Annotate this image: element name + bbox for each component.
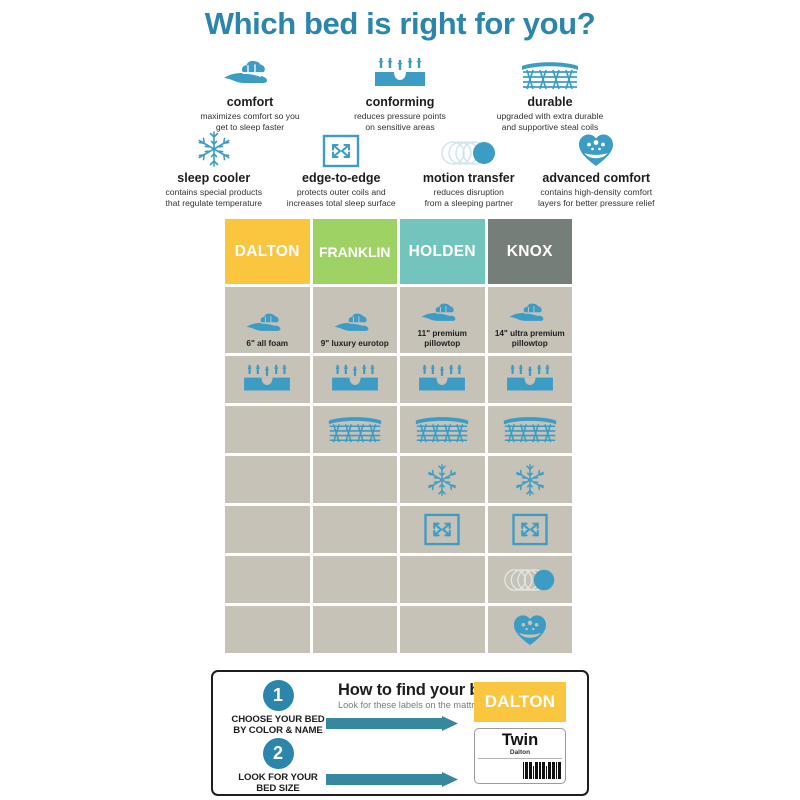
comfort-hand-icon xyxy=(245,310,289,336)
arrow-right-icon xyxy=(326,716,458,736)
expand-arrows-icon xyxy=(511,513,549,546)
matrix-cell xyxy=(488,356,573,403)
matrix-cell: 6" all foam xyxy=(225,287,310,353)
step-number-badge: 2 xyxy=(263,738,294,769)
matrix-row-edge-to-edge xyxy=(225,506,572,553)
feature-desc-line1: reduces pressure points xyxy=(335,111,465,122)
feature-desc-line2: layers for better pressure relief xyxy=(533,198,661,209)
comparison-grid: DALTON FRANKLIN HOLDEN KNOX 6" all foam … xyxy=(225,219,572,656)
product-header-dalton[interactable]: DALTON xyxy=(225,219,310,284)
snowflake-icon xyxy=(425,463,459,497)
product-header-knox[interactable]: KNOX xyxy=(488,219,573,284)
size-tag-body xyxy=(475,759,565,780)
feature-desc-line1: maximizes comfort so you xyxy=(185,111,315,122)
comfort-hand-icon xyxy=(185,54,315,92)
motion-circles-icon xyxy=(405,130,533,168)
motion-circles-icon xyxy=(501,566,559,594)
matrix-cell xyxy=(400,356,485,403)
matrix-cell-empty xyxy=(313,606,398,653)
step-text-line1: LOOK FOR YOUR xyxy=(218,772,338,783)
feature-desc-line1: reduces disruption xyxy=(405,187,533,198)
feature-name: conforming xyxy=(335,95,465,109)
step-2: 2 LOOK FOR YOUR BED SIZE xyxy=(218,738,338,794)
durable-coils-icon xyxy=(327,415,383,445)
matrix-cell-empty xyxy=(313,456,398,503)
matrix-cell-empty xyxy=(225,406,310,453)
conforming-arrows-icon xyxy=(329,363,381,396)
matrix-cell xyxy=(488,606,573,653)
product-header-franklin[interactable]: FRANKLIN xyxy=(313,219,398,284)
matrix-cell xyxy=(400,456,485,503)
snowflake-icon xyxy=(150,130,278,168)
barcode-icon xyxy=(523,762,561,779)
arrow-right-icon xyxy=(326,772,458,792)
feature-motion-transfer: motion transfer reduces disruption from … xyxy=(405,130,533,208)
infographic-page: Which bed is right for you? comfort maxi… xyxy=(0,0,800,800)
matrix-cell xyxy=(400,506,485,553)
durable-coils-icon xyxy=(414,415,470,445)
feature-advanced-comfort: advanced comfort contains high-density c… xyxy=(533,130,661,208)
comfort-hand-icon xyxy=(508,300,552,326)
matrix-cell-empty xyxy=(313,556,398,603)
step-text-line2: BED SIZE xyxy=(218,783,338,794)
conforming-arrows-icon xyxy=(335,54,465,92)
step-1: 1 CHOOSE YOUR BED BY COLOR & NAME xyxy=(218,680,338,736)
size-tag-model: Dalton xyxy=(478,749,562,759)
matrix-cell-empty xyxy=(400,556,485,603)
step-text-line2: BY COLOR & NAME xyxy=(218,725,338,736)
feature-conforming: conforming reduces pressure points on se… xyxy=(335,54,465,132)
conforming-arrows-icon xyxy=(504,363,556,396)
product-spec-dalton: 6" all foam xyxy=(246,339,288,349)
matrix-cell-empty xyxy=(225,456,310,503)
product-spec-knox: 14" ultra premium pillowtop xyxy=(488,329,573,348)
matrix-row-sleep-cooler xyxy=(225,456,572,503)
expand-arrows-icon xyxy=(423,513,461,546)
feature-desc-line1: contains special products xyxy=(150,187,278,198)
product-spec-franklin: 9" luxury eurotop xyxy=(321,339,389,349)
feature-desc-line2: that regulate temperature xyxy=(150,198,278,209)
feature-comfort: comfort maximizes comfort so you get to … xyxy=(185,54,315,132)
brand-color-tag: DALTON xyxy=(474,682,566,722)
feature-name: edge-to-edge xyxy=(278,171,406,185)
step-number-badge: 1 xyxy=(263,680,294,711)
matrix-row-conforming xyxy=(225,356,572,403)
comfort-hand-icon xyxy=(420,300,464,326)
durable-coils-icon xyxy=(502,415,558,445)
matrix-cell-empty xyxy=(400,606,485,653)
product-header-row: DALTON FRANKLIN HOLDEN KNOX xyxy=(225,219,572,284)
matrix-row-advanced-comfort xyxy=(225,606,572,653)
comfort-hand-icon xyxy=(333,310,377,336)
feature-desc-line2: increases total sleep surface xyxy=(278,198,406,209)
matrix-cell: 14" ultra premium pillowtop xyxy=(488,287,573,353)
matrix-cell: 9" luxury eurotop xyxy=(313,287,398,353)
features-row-primary: comfort maximizes comfort so you get to … xyxy=(185,54,615,132)
matrix-cell xyxy=(488,406,573,453)
size-tag-fineprint xyxy=(479,762,523,780)
how-to-find-panel: How to find your bed Look for these labe… xyxy=(211,670,589,796)
feature-edge-to-edge: edge-to-edge protects outer coils and in… xyxy=(278,130,406,208)
feature-name: motion transfer xyxy=(405,171,533,185)
matrix-cell-empty xyxy=(313,506,398,553)
matrix-cell xyxy=(488,456,573,503)
matrix-cell xyxy=(488,506,573,553)
matrix-row-motion-transfer xyxy=(225,556,572,603)
panel-subtitle: Look for these labels on the mattress xyxy=(338,700,489,710)
snowflake-icon xyxy=(513,463,547,497)
feature-desc-line2: from a sleeping partner xyxy=(405,198,533,209)
matrix-row-durable xyxy=(225,406,572,453)
conforming-arrows-icon xyxy=(241,363,293,396)
matrix-cell xyxy=(488,556,573,603)
expand-arrows-icon xyxy=(278,130,406,168)
durable-coils-icon xyxy=(485,54,615,92)
page-title: Which bed is right for you? xyxy=(0,6,800,42)
matrix-cell-empty xyxy=(225,606,310,653)
matrix-cell-empty xyxy=(225,556,310,603)
conforming-arrows-icon xyxy=(416,363,468,396)
feature-sleep-cooler: sleep cooler contains special products t… xyxy=(150,130,278,208)
feature-name: comfort xyxy=(185,95,315,109)
feature-name: sleep cooler xyxy=(150,171,278,185)
mattress-size-label: Twin Dalton xyxy=(474,728,566,784)
feature-durable: durable upgraded with extra durable and … xyxy=(485,54,615,132)
features-row-secondary: sleep cooler contains special products t… xyxy=(150,130,660,208)
feature-desc-line1: contains high-density comfort xyxy=(533,187,661,198)
product-spec-holden: 11" premium pillowtop xyxy=(400,329,485,348)
heart-icon xyxy=(533,130,661,168)
step-text-line1: CHOOSE YOUR BED xyxy=(218,714,338,725)
matrix-cell: 11" premium pillowtop xyxy=(400,287,485,353)
feature-desc-line1: upgraded with extra durable xyxy=(485,111,615,122)
matrix-cell xyxy=(225,356,310,403)
feature-name: durable xyxy=(485,95,615,109)
matrix-row-comfort: 6" all foam 9" luxury eurotop 11" premiu… xyxy=(225,287,572,353)
product-header-holden[interactable]: HOLDEN xyxy=(400,219,485,284)
size-tag-size: Twin xyxy=(475,731,565,749)
feature-desc-line1: protects outer coils and xyxy=(278,187,406,198)
matrix-cell xyxy=(400,406,485,453)
matrix-cell-empty xyxy=(225,506,310,553)
feature-name: advanced comfort xyxy=(533,171,661,185)
matrix-cell xyxy=(313,356,398,403)
heart-icon xyxy=(512,613,548,647)
matrix-cell xyxy=(313,406,398,453)
